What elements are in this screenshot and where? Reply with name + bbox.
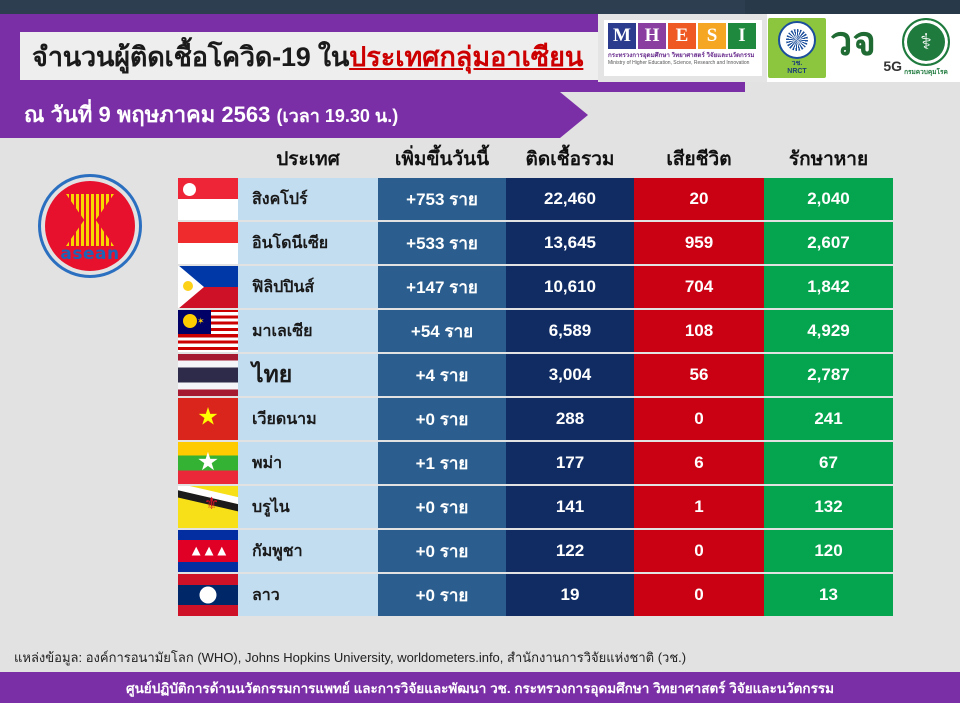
- column-header-deaths: เสียชีวิต: [634, 144, 764, 174]
- recovered-value: 2,040: [764, 178, 893, 220]
- column-header-total-cases: ติดเชื้อรวม: [506, 144, 634, 174]
- wo5g-glyph: วจ: [830, 22, 904, 62]
- myanmar-flag: ★: [178, 442, 238, 484]
- mhesi-logo: M H E S I กระทรวงการอุดมศึกษา วิทยาศาสตร…: [604, 20, 762, 76]
- flag-cell: ✶: [178, 310, 238, 352]
- cambodia-flag: ▲▲▲: [178, 530, 238, 572]
- recovered-value: 13: [764, 574, 893, 616]
- table-header: ประเทศ เพิ่มขึ้นวันนี้ ติดเชื้อรวม เสียช…: [178, 144, 893, 176]
- flag-cell: ★: [178, 442, 238, 484]
- header-banner-arrow: [560, 92, 588, 138]
- new-cases-value: +0 ราย: [378, 530, 506, 572]
- mhesi-english-name: Ministry of Higher Education, Science, R…: [608, 60, 758, 67]
- mhesi-letter-e: E: [668, 23, 696, 49]
- covid-table: สิงคโปร์ +753 ราย 22,460 20 2,040 อินโดน…: [178, 178, 893, 618]
- table-row: ⚜ บรูไน +0 ราย 141 1 132: [178, 486, 893, 528]
- new-cases-value: +0 ราย: [378, 398, 506, 440]
- total-cases-value: 6,589: [506, 310, 634, 352]
- total-cases-value: 177: [506, 442, 634, 484]
- top-dark-bar-left: [0, 0, 745, 14]
- deaths-value: 0: [634, 574, 764, 616]
- flag-cell: ▲▲▲: [178, 530, 238, 572]
- country-name: ลาว: [238, 574, 378, 616]
- brunei-flag: ⚜: [178, 486, 238, 528]
- deaths-value: 959: [634, 222, 764, 264]
- page-subtitle: ณ วันที่ 9 พฤษภาคม 2563 (เวลา 19.30 น.): [24, 97, 398, 132]
- page-title-main: จำนวนผู้ติดเชื้อโควิด-19 ใน: [32, 35, 349, 78]
- deaths-value: 108: [634, 310, 764, 352]
- country-name: บรูไน: [238, 486, 378, 528]
- nrct-logo: วช. NRCT: [768, 18, 826, 78]
- total-cases-value: 141: [506, 486, 634, 528]
- new-cases-value: +0 ราย: [378, 574, 506, 616]
- deaths-value: 6: [634, 442, 764, 484]
- new-cases-value: +4 ราย: [378, 354, 506, 396]
- column-header-country: ประเทศ: [238, 144, 378, 174]
- mhesi-letter-m: M: [608, 23, 636, 49]
- asean-logo: asean: [28, 172, 152, 282]
- total-cases-value: 122: [506, 530, 634, 572]
- flag-cell: [178, 266, 238, 308]
- recovered-value: 4,929: [764, 310, 893, 352]
- country-name: สิงคโปร์: [238, 178, 378, 220]
- total-cases-value: 288: [506, 398, 634, 440]
- table-row: ▲▲▲ กัมพูชา +0 ราย 122 0 120: [178, 530, 893, 572]
- recovered-value: 132: [764, 486, 893, 528]
- recovered-value: 2,787: [764, 354, 893, 396]
- total-cases-value: 13,645: [506, 222, 634, 264]
- recovered-value: 2,607: [764, 222, 893, 264]
- flag-cell: ⚜: [178, 486, 238, 528]
- new-cases-value: +54 ราย: [378, 310, 506, 352]
- indonesia-flag: [178, 222, 238, 264]
- flag-cell: [178, 574, 238, 616]
- table-row: ✶ มาเลเซีย +54 ราย 6,589 108 4,929: [178, 310, 893, 352]
- footer-bar-text: ศูนย์ปฏิบัติการด้านนวัตกรรมการแพทย์ และก…: [126, 677, 834, 699]
- mhesi-letter-h: H: [638, 23, 666, 49]
- table-row: ★ เวียดนาม +0 ราย 288 0 241: [178, 398, 893, 440]
- page-subtitle-time: (เวลา 19.30 น.): [276, 106, 398, 126]
- deaths-value: 0: [634, 530, 764, 572]
- vietnam-flag: ★: [178, 398, 238, 440]
- table-row: ไทย +4 ราย 3,004 56 2,787: [178, 354, 893, 396]
- footer-bar: ศูนย์ปฏิบัติการด้านนวัตกรรมการแพทย์ และก…: [0, 672, 960, 703]
- new-cases-value: +753 ราย: [378, 178, 506, 220]
- flag-cell: ★: [178, 398, 238, 440]
- new-cases-value: +0 ราย: [378, 486, 506, 528]
- singapore-flag: [178, 178, 238, 220]
- nrct-gear-icon: [778, 21, 816, 59]
- thailand-flag: [178, 354, 238, 396]
- deaths-value: 20: [634, 178, 764, 220]
- table-row: อินโดนีเซีย +533 ราย 13,645 959 2,607: [178, 222, 893, 264]
- mhesi-letter-s: S: [698, 23, 726, 49]
- deaths-value: 1: [634, 486, 764, 528]
- malaysia-flag: ✶: [178, 310, 238, 352]
- country-name: พม่า: [238, 442, 378, 484]
- country-name: มาเลเซีย: [238, 310, 378, 352]
- mhesi-letter-i: I: [728, 23, 756, 49]
- moph-label: กรมควบคุมโรค: [904, 67, 948, 77]
- column-header-recovered: รักษาหาย: [764, 144, 893, 174]
- recovered-value: 1,842: [764, 266, 893, 308]
- table-row: ลาว +0 ราย 19 0 13: [178, 574, 893, 616]
- laos-flag: [178, 574, 238, 616]
- total-cases-value: 22,460: [506, 178, 634, 220]
- wo5g-logo: วจ 5G: [830, 22, 904, 74]
- country-name: อินโดนีเซีย: [238, 222, 378, 264]
- country-name: ไทย: [238, 354, 378, 396]
- flag-cell: [178, 354, 238, 396]
- deaths-value: 56: [634, 354, 764, 396]
- page-subtitle-date: ณ วันที่ 9 พฤษภาคม 2563: [24, 102, 270, 127]
- new-cases-value: +533 ราย: [378, 222, 506, 264]
- new-cases-value: +147 ราย: [378, 266, 506, 308]
- recovered-value: 67: [764, 442, 893, 484]
- source-note: แหล่งข้อมูล: องค์การอนามัยโลก (WHO), Joh…: [14, 647, 686, 668]
- total-cases-value: 3,004: [506, 354, 634, 396]
- total-cases-value: 19: [506, 574, 634, 616]
- flag-cell: [178, 178, 238, 220]
- total-cases-value: 10,610: [506, 266, 634, 308]
- recovered-value: 120: [764, 530, 893, 572]
- table-row: สิงคโปร์ +753 ราย 22,460 20 2,040: [178, 178, 893, 220]
- country-name: เวียดนาม: [238, 398, 378, 440]
- column-header-new-cases: เพิ่มขึ้นวันนี้: [378, 144, 506, 174]
- deaths-value: 0: [634, 398, 764, 440]
- mhesi-letter-blocks: M H E S I: [608, 23, 758, 49]
- new-cases-value: +1 ราย: [378, 442, 506, 484]
- country-name: กัมพูชา: [238, 530, 378, 572]
- asean-wordmark: asean: [28, 244, 152, 264]
- page-title-highlight: ประเทศกลุ่มอาเซียน: [349, 35, 583, 78]
- country-name: ฟิลิปปินส์: [238, 266, 378, 308]
- mhesi-thai-name: กระทรวงการอุดมศึกษา วิทยาศาสตร์ วิจัยและ…: [608, 52, 758, 60]
- deaths-value: 704: [634, 266, 764, 308]
- table-row: ★ พม่า +1 ราย 177 6 67: [178, 442, 893, 484]
- caduceus-icon: ⚕: [902, 18, 950, 66]
- nrct-label: วช. NRCT: [787, 60, 806, 75]
- philippines-flag: [178, 266, 238, 308]
- table-row: ฟิลิปปินส์ +147 ราย 10,610 704 1,842: [178, 266, 893, 308]
- recovered-value: 241: [764, 398, 893, 440]
- moph-logo: ⚕ กรมควบคุมโรค: [898, 18, 954, 80]
- flag-cell: [178, 222, 238, 264]
- top-dark-bar: [0, 0, 960, 14]
